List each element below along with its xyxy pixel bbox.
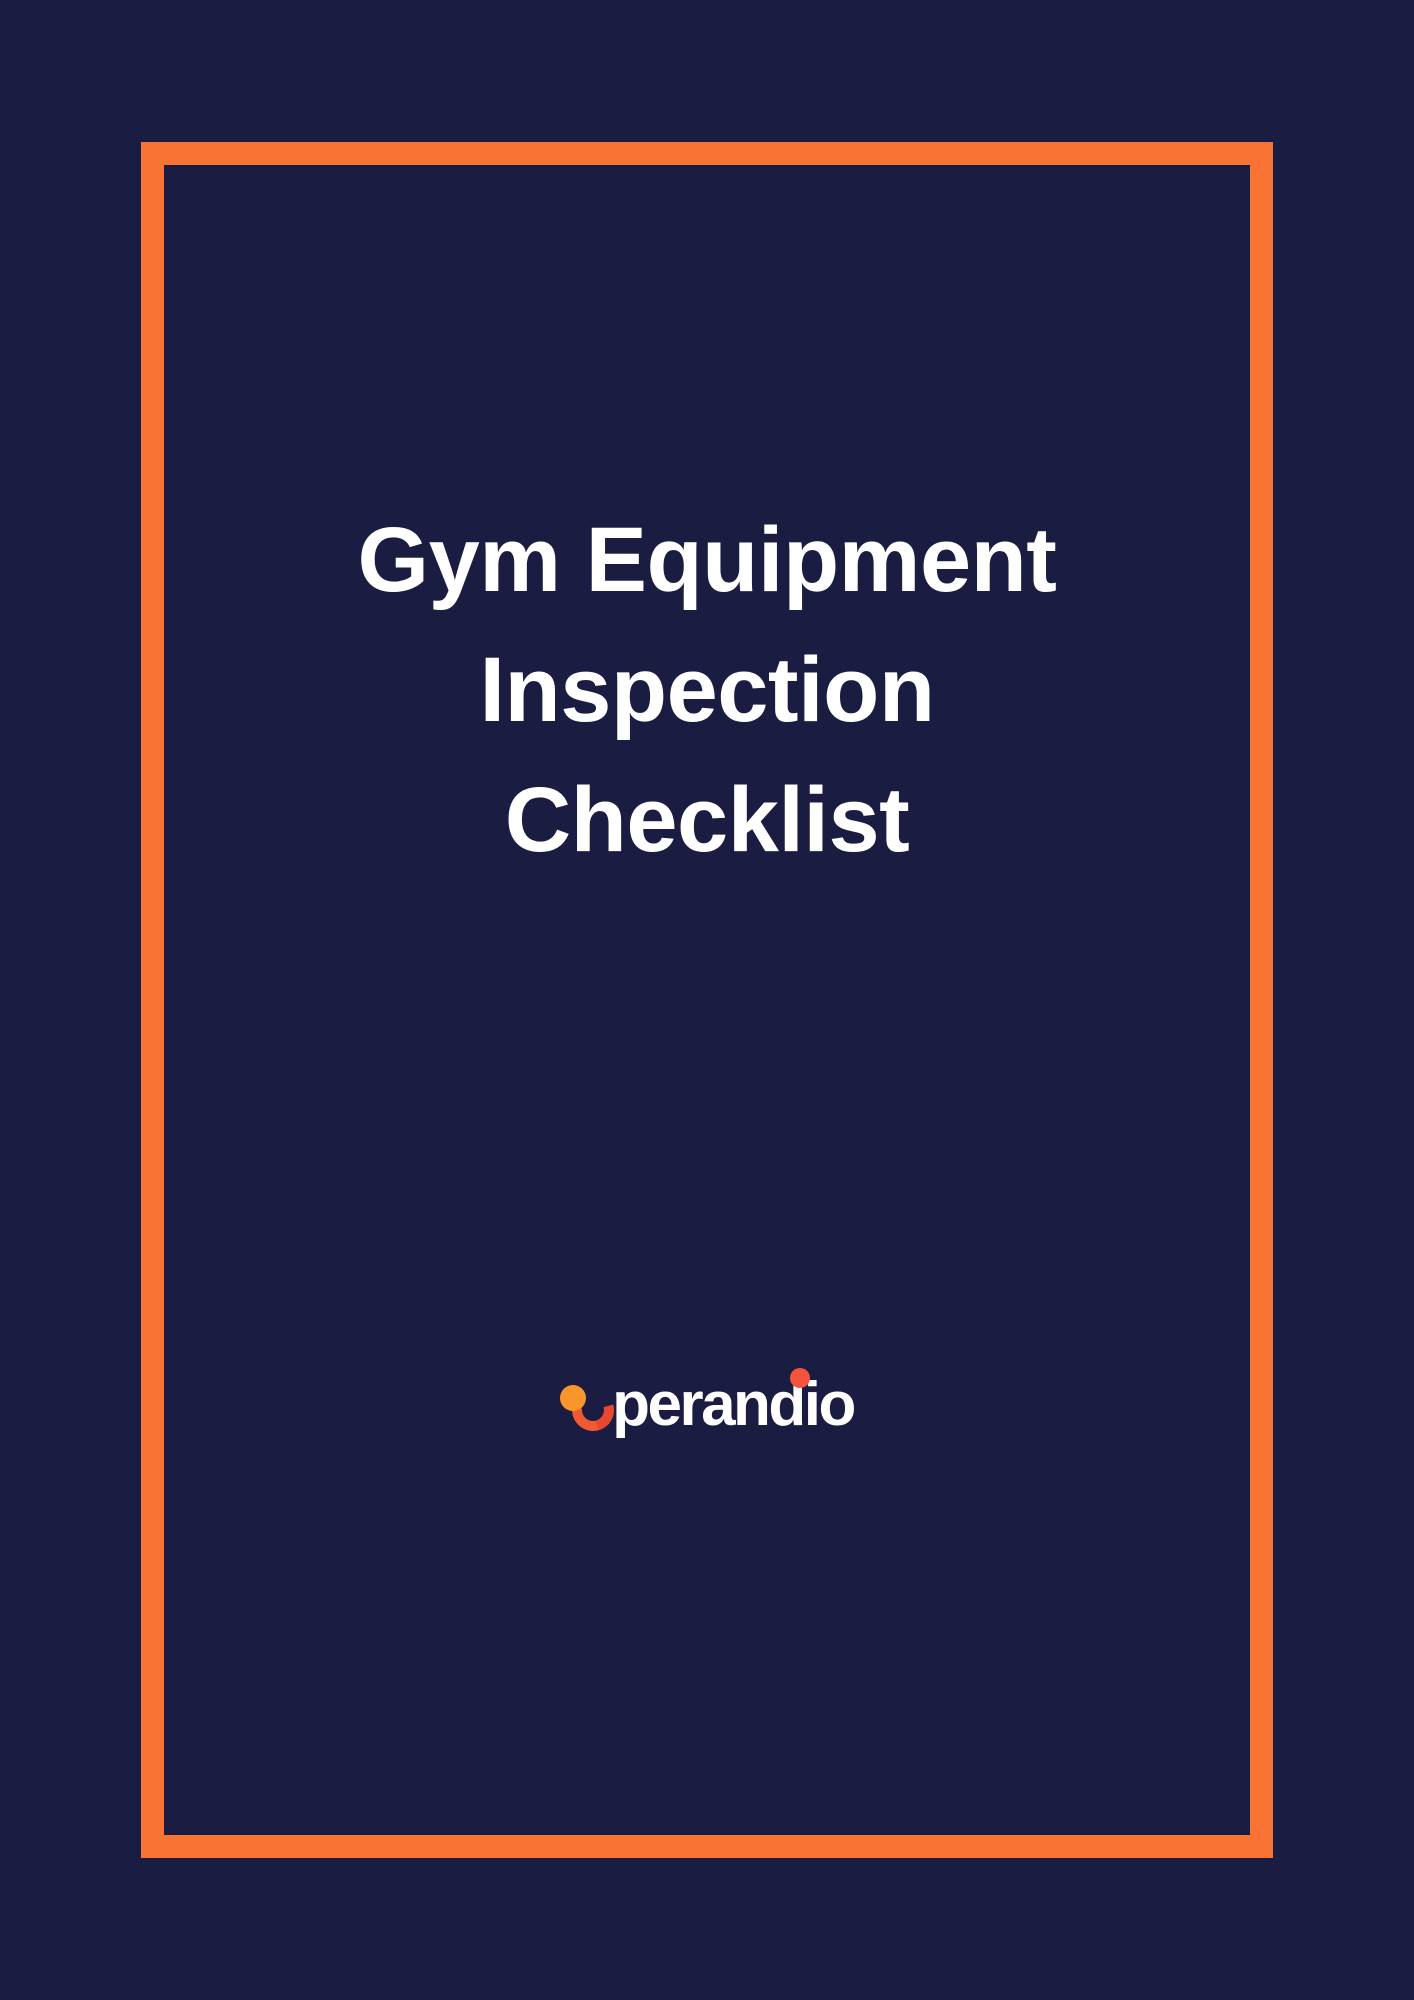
brand-logo: perandio (164, 1370, 1250, 1440)
brand-wordmark-text: perandio (612, 1370, 854, 1439)
brand-wordmark: perandio (612, 1374, 854, 1436)
cover-content-area: Gym Equipment Inspection Checklist peran… (164, 165, 1250, 1835)
ring-inner-dot-icon (560, 1385, 586, 1411)
page-title: Gym Equipment Inspection Checklist (164, 495, 1250, 885)
operandio-ring-icon (560, 1377, 616, 1433)
cover-page: Gym Equipment Inspection Checklist peran… (0, 0, 1414, 2000)
operandio-dot-icon (790, 1368, 810, 1388)
logo-lockup: perandio (560, 1370, 854, 1440)
